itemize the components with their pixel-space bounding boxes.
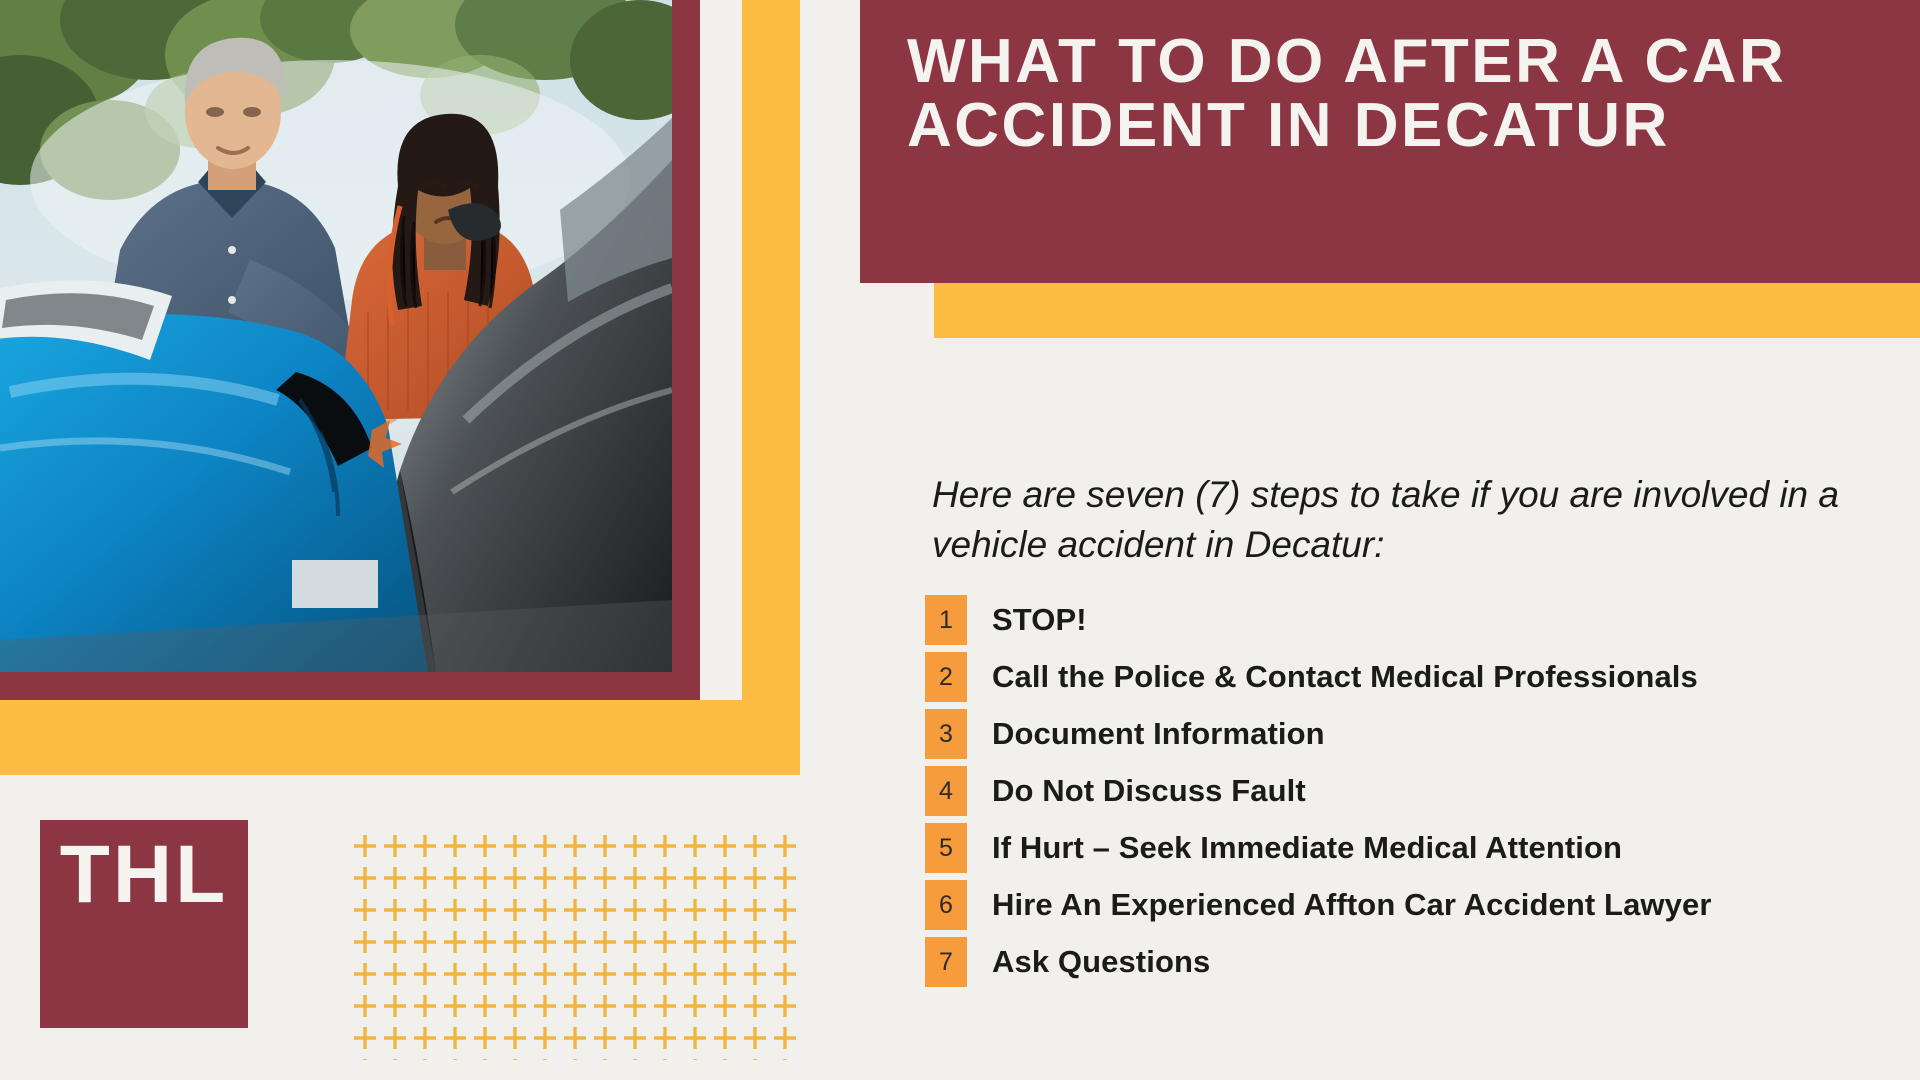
infographic-canvas: THL WHAT TO DO AFTER A CAR ACCIDENT IN D… xyxy=(0,0,1920,1080)
page-title: WHAT TO DO AFTER A CAR ACCIDENT IN DECAT… xyxy=(907,30,1907,159)
left-horizontal-accent-bar xyxy=(0,700,800,775)
step-number-badge: 4 xyxy=(925,766,967,816)
list-item: 5 If Hurt – Seek Immediate Medical Atten… xyxy=(925,823,1905,873)
list-item: 1 STOP! xyxy=(925,595,1905,645)
steps-list: 1 STOP! 2 Call the Police & Contact Medi… xyxy=(925,595,1905,994)
step-label: If Hurt – Seek Immediate Medical Attenti… xyxy=(967,823,1622,873)
intro-paragraph: Here are seven (7) steps to take if you … xyxy=(932,470,1862,569)
step-label: Call the Police & Contact Medical Profes… xyxy=(967,652,1698,702)
step-label: Hire An Experienced Affton Car Accident … xyxy=(967,880,1712,930)
step-label: Do Not Discuss Fault xyxy=(967,766,1306,816)
plus-grid-icon xyxy=(352,832,800,1060)
step-number-badge: 6 xyxy=(925,880,967,930)
left-vertical-accent-stripe xyxy=(742,0,800,700)
accident-photo xyxy=(0,0,672,672)
list-item: 3 Document Information xyxy=(925,709,1905,759)
step-label: STOP! xyxy=(967,595,1087,645)
step-label: Ask Questions xyxy=(967,937,1210,987)
step-label: Document Information xyxy=(967,709,1325,759)
photo-frame xyxy=(0,0,700,700)
list-item: 6 Hire An Experienced Affton Car Acciden… xyxy=(925,880,1905,930)
step-number-badge: 7 xyxy=(925,937,967,987)
list-item: 7 Ask Questions xyxy=(925,937,1905,987)
step-number-badge: 1 xyxy=(925,595,967,645)
header-accent-bar xyxy=(934,283,1920,338)
step-number-badge: 3 xyxy=(925,709,967,759)
list-item: 2 Call the Police & Contact Medical Prof… xyxy=(925,652,1905,702)
step-number-badge: 5 xyxy=(925,823,967,873)
list-item: 4 Do Not Discuss Fault xyxy=(925,766,1905,816)
step-number-badge: 2 xyxy=(925,652,967,702)
thl-logo-text: THL xyxy=(40,834,248,916)
thl-logo: THL xyxy=(40,820,248,1028)
accident-photo-illustration xyxy=(0,0,672,672)
plus-grid-pattern xyxy=(352,832,800,1060)
